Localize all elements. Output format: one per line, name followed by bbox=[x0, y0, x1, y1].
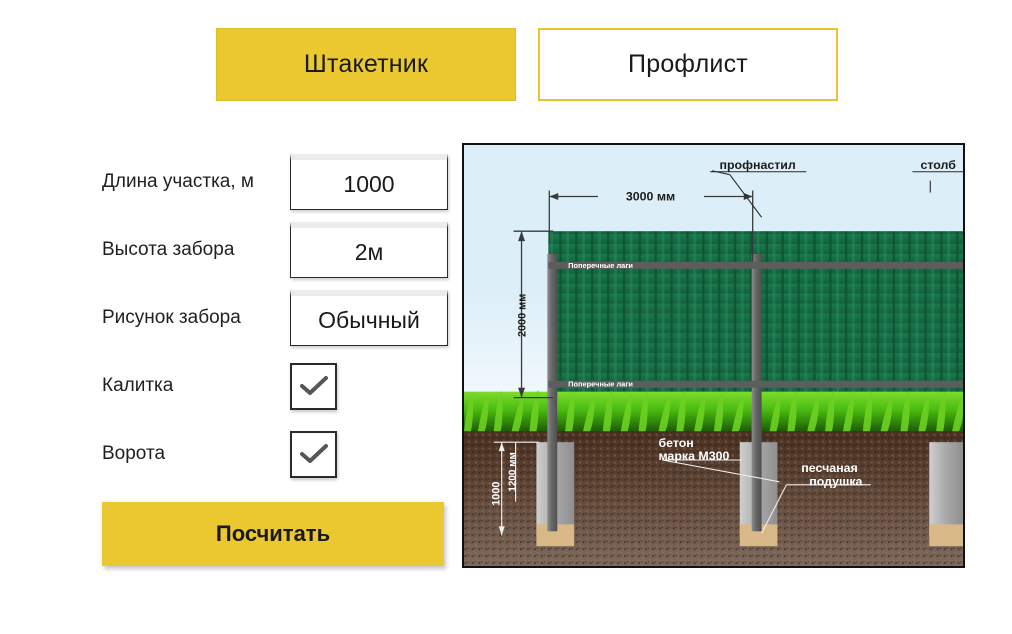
depth-1200-label: 1200 мм bbox=[508, 452, 519, 491]
sand-pad-right bbox=[929, 524, 963, 546]
select-height-value: 2м bbox=[355, 239, 384, 266]
select-height[interactable]: 2м bbox=[290, 222, 448, 278]
label-length: Длина участка, м bbox=[102, 171, 290, 194]
tab-bar: Штакетник Профлист bbox=[216, 28, 838, 101]
tab-shtaketnik[interactable]: Штакетник bbox=[216, 28, 516, 101]
callout-sand-line2: подушка bbox=[809, 475, 862, 489]
fence-diagram: Поперечные лаги Поперечные лаги 3000 мм … bbox=[462, 143, 965, 568]
select-pattern-value: Обычный bbox=[318, 307, 420, 334]
input-length-value: 1000 bbox=[343, 171, 394, 198]
width-dimension-label: 3000 мм bbox=[626, 189, 675, 203]
check-icon bbox=[299, 374, 329, 398]
checkbox-wicket[interactable] bbox=[290, 363, 337, 410]
form-row-pattern: Рисунок забора Обычный bbox=[102, 284, 450, 352]
callout-sand-line1: песчаная bbox=[801, 461, 857, 475]
post-middle bbox=[752, 254, 762, 531]
height-dimension-label: 2000 мм bbox=[517, 294, 529, 337]
tab-proflist[interactable]: Профлист bbox=[538, 28, 838, 101]
depth-1000-label: 1000 bbox=[491, 482, 503, 506]
label-gate: Ворота bbox=[102, 443, 290, 466]
calculator-form: Длина участка, м 1000 Высота забора 2м Р… bbox=[102, 148, 450, 488]
form-row-gate: Ворота bbox=[102, 420, 450, 488]
label-pattern: Рисунок забора bbox=[102, 307, 290, 330]
callout-post-label: столб bbox=[920, 158, 956, 172]
rail-bottom-label: Поперечные лаги bbox=[568, 380, 633, 389]
checkbox-gate[interactable] bbox=[290, 431, 337, 478]
form-row-wicket: Калитка bbox=[102, 352, 450, 420]
fence-diagram-svg: Поперечные лаги Поперечные лаги 3000 мм … bbox=[464, 145, 963, 566]
calculate-button[interactable]: Посчитать bbox=[102, 502, 444, 566]
callout-concrete-line2: марка М300 bbox=[658, 449, 729, 463]
callout-sheet-label: профнастил bbox=[720, 158, 796, 172]
check-icon bbox=[299, 442, 329, 466]
post-left bbox=[547, 254, 557, 531]
tab-shtaketnik-label: Штакетник bbox=[304, 50, 428, 79]
rail-top-label: Поперечные лаги bbox=[568, 261, 633, 270]
form-row-length: Длина участка, м 1000 bbox=[102, 148, 450, 216]
footing-right bbox=[929, 442, 963, 536]
tab-proflist-label: Профлист bbox=[628, 50, 748, 79]
select-pattern[interactable]: Обычный bbox=[290, 290, 448, 346]
label-height: Высота забора bbox=[102, 239, 290, 262]
form-row-height: Высота забора 2м bbox=[102, 216, 450, 284]
label-wicket: Калитка bbox=[102, 375, 290, 398]
input-length[interactable]: 1000 bbox=[290, 154, 448, 210]
